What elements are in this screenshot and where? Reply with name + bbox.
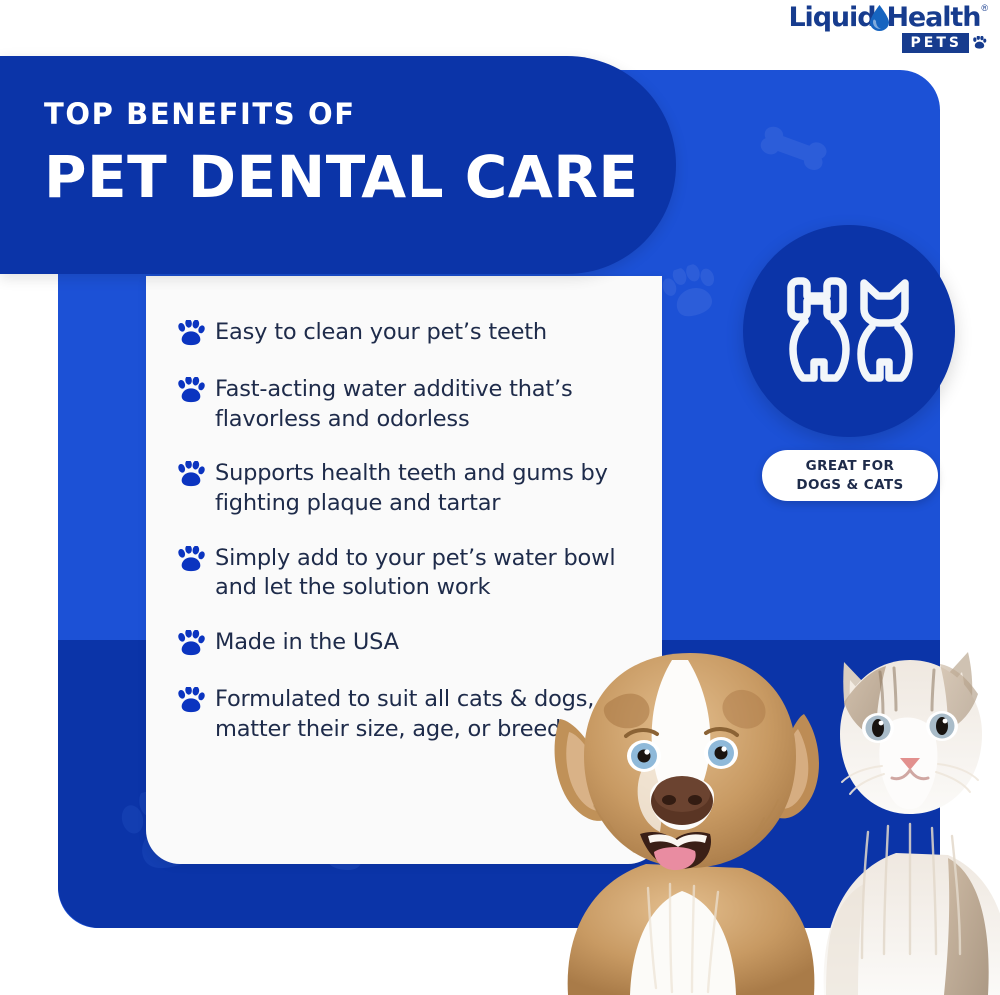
benefit-text: Easy to clean your pet’s teeth: [215, 318, 547, 348]
list-item: Supports health teeth and gums by fighti…: [176, 459, 644, 518]
status-badge: GREAT FOR DOGS & CATS: [762, 450, 938, 501]
logo-pets-text: PETS: [902, 33, 969, 53]
page-title: PET DENTAL CARE: [44, 148, 639, 206]
registered-mark: ®: [981, 4, 988, 13]
benefit-text: Fast-acting water additive that’s flavor…: [215, 375, 635, 434]
paw-print-icon: [176, 546, 206, 576]
list-item: Simply add to your pet’s water bowl and …: [176, 544, 644, 603]
badge-line-1: GREAT FOR: [806, 457, 895, 475]
paw-icon: [972, 36, 987, 51]
infographic-canvas: TOP BENEFITS OF PET DENTAL CARE Easy to …: [0, 0, 1000, 995]
logo-pets-badge: PETS: [902, 33, 987, 53]
logo-health-text: Health: [886, 4, 980, 31]
paw-print-icon: [176, 461, 206, 491]
logo-liquid-text: Liquid: [788, 4, 875, 31]
paw-watermark: [654, 258, 730, 334]
list-item: Fast-acting water additive that’s flavor…: [176, 375, 644, 434]
dog-and-cat-icon: [743, 225, 955, 437]
dog-illustration: [555, 653, 819, 995]
benefit-text: Simply add to your pet’s water bowl and …: [215, 544, 635, 603]
title-kicker: TOP BENEFITS OF: [44, 97, 356, 131]
paw-print-icon: [176, 630, 206, 660]
cat-illustration: [824, 652, 1000, 995]
paw-print-icon: [176, 320, 206, 350]
title-banner: TOP BENEFITS OF PET DENTAL CARE: [0, 56, 676, 274]
logo-wordmark: Liquid Health ®: [788, 4, 988, 31]
benefit-text: Made in the USA: [215, 628, 399, 658]
badge-line-2: DOGS & CATS: [796, 476, 903, 494]
brand-logo: Liquid Health ® PETS: [812, 4, 988, 52]
bone-watermark: [753, 119, 832, 181]
list-item: Easy to clean your pet’s teeth: [176, 318, 644, 350]
paw-print-icon: [176, 687, 206, 717]
benefit-text: Supports health teeth and gums by fighti…: [215, 459, 635, 518]
water-drop-icon: [870, 4, 889, 31]
pets-photo: [538, 636, 1000, 995]
paw-print-icon: [176, 377, 206, 407]
